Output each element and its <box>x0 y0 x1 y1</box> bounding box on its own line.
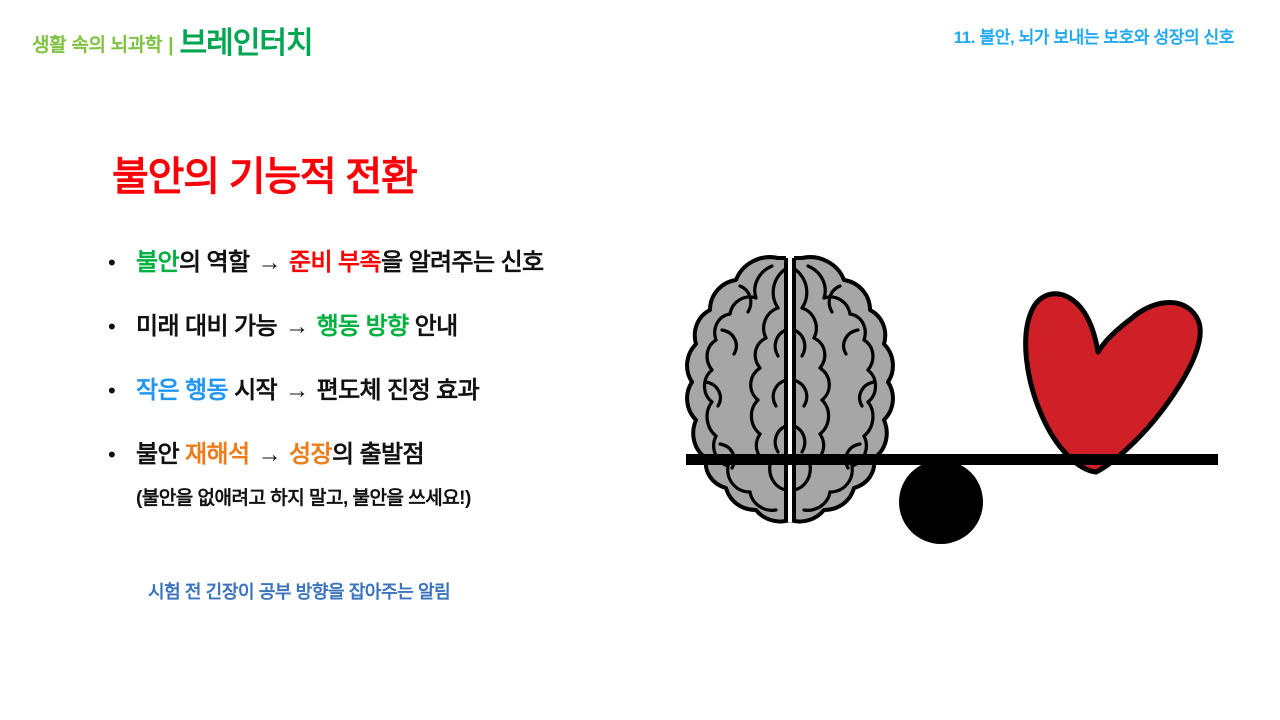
bullet-segment: 행동 방향 <box>317 313 409 340</box>
bullet-segment: 의 역할 <box>179 249 256 276</box>
balance-scale-illustration <box>660 230 1260 570</box>
bullet-sub-note: (불안을 없애려고 하지 말고, 불안을 쓰세요!) <box>136 483 706 510</box>
bullet-text: 작은 행동 시작 → 편도체 진정 효과 <box>136 371 479 411</box>
slide-header: 생활 속의 뇌과학 | 브레인터치 11. 불안, 뇌가 보내는 보호와 성장의… <box>0 0 1280 68</box>
slide-root: 생활 속의 뇌과학 | 브레인터치 11. 불안, 뇌가 보내는 보호와 성장의… <box>0 0 1280 720</box>
bullet-marker: • <box>106 371 136 411</box>
fulcrum-circle <box>899 460 983 544</box>
heart-icon <box>1026 294 1201 472</box>
bullet-marker: • <box>106 307 136 347</box>
brand-block: 생활 속의 뇌과학 | 브레인터치 <box>32 16 313 60</box>
bullet-segment: 편도체 진정 효과 <box>311 377 480 404</box>
bullet-segment: 재해석 <box>185 441 249 468</box>
bullet-marker: • <box>106 243 136 283</box>
bullet-item-4: •불안 재해석 → 성장의 출발점 <box>106 435 706 475</box>
brain-icon <box>687 256 893 522</box>
bullet-segment: 을 알려주는 신호 <box>381 249 544 276</box>
page-title: 불안의 기능적 전환 <box>112 144 417 202</box>
bullet-segment: 불안 <box>136 441 185 468</box>
bullet-text: 불안의 역할 → 준비 부족을 알려주는 신호 <box>136 243 544 283</box>
bullet-list: •불안의 역할 → 준비 부족을 알려주는 신호•미래 대비 가능 → 행동 방… <box>106 243 706 532</box>
bullet-segment: 작은 행동 <box>136 377 228 404</box>
brand-separator: | <box>162 35 179 57</box>
bullet-segment: 시작 <box>228 377 283 404</box>
arrow-icon: → <box>256 249 283 276</box>
bullet-item-1: •불안의 역할 → 준비 부족을 알려주는 신호 <box>106 243 706 283</box>
arrow-icon: → <box>283 377 310 404</box>
bullet-item-2: •미래 대비 가능 → 행동 방향 안내 <box>106 307 706 347</box>
bullet-segment <box>249 441 255 468</box>
bullet-text: 미래 대비 가능 → 행동 방향 안내 <box>136 307 458 347</box>
footer-note: 시험 전 긴장이 공부 방향을 잡아주는 알림 <box>148 578 450 604</box>
bullet-marker: • <box>106 435 136 475</box>
bullet-segment: 준비 부족 <box>289 249 381 276</box>
brand-subtitle: 생활 속의 뇌과학 <box>32 30 162 57</box>
bullet-item-3: •작은 행동 시작 → 편도체 진정 효과 <box>106 371 706 411</box>
lesson-title: 11. 불안, 뇌가 보내는 보호와 성장의 신호 <box>954 23 1234 48</box>
arrow-icon: → <box>256 441 283 468</box>
bullet-segment: 의 출발점 <box>332 441 424 468</box>
arrow-icon: → <box>283 313 310 340</box>
bullet-text: 불안 재해석 → 성장의 출발점 <box>136 435 424 475</box>
bullet-segment: 미래 대비 가능 <box>136 313 283 340</box>
bullet-segment: 안내 <box>409 313 458 340</box>
brand-name: 브레인터치 <box>180 18 313 62</box>
bullet-segment: 성장 <box>289 441 332 468</box>
bullet-segment: 불안 <box>136 249 179 276</box>
